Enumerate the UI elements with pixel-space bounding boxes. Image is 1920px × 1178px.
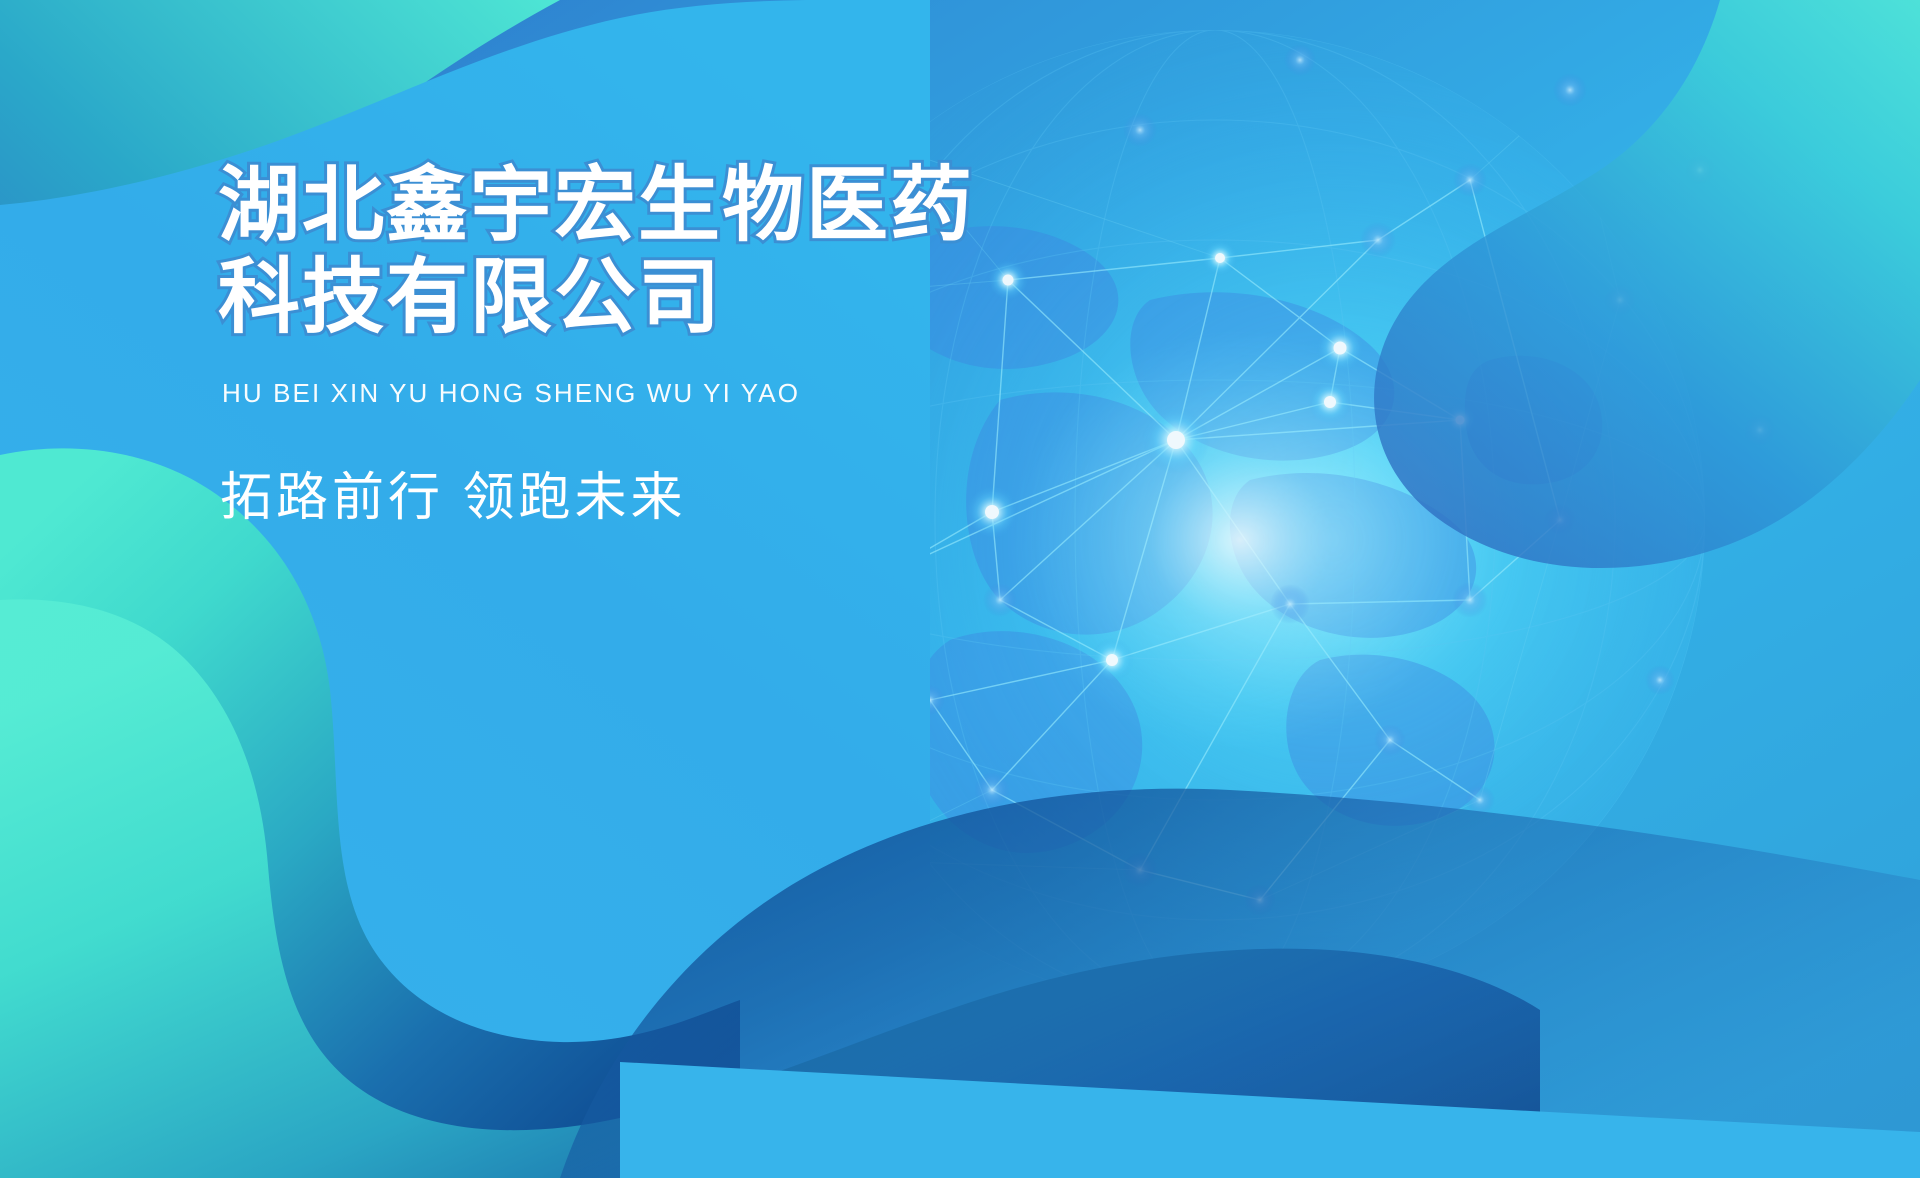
company-title-line-1: 湖北鑫宇宏生物医药 <box>218 160 1118 252</box>
banner-root: 湖北鑫宇宏生物医药 科技有限公司 HU BEI XIN YU HONG SHEN… <box>0 0 1920 1178</box>
company-tagline: 拓路前行 领跑未来 <box>220 455 1118 530</box>
headline-block: 湖北鑫宇宏生物医药 科技有限公司 HU BEI XIN YU HONG SHEN… <box>218 160 1118 530</box>
company-title-line-2: 科技有限公司 <box>218 252 1118 344</box>
company-pinyin: HU BEI XIN YU HONG SHENG WU YI YAO <box>222 378 1118 409</box>
